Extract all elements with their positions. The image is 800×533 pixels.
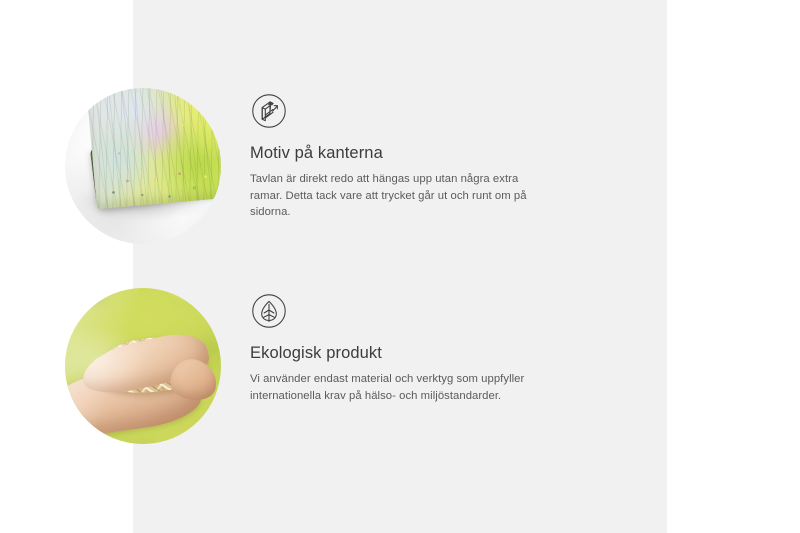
feature-title: Motiv på kanterna (250, 144, 530, 164)
feature-block-motiv-pa-kanterna: Motiv på kanterna Tavlan är direkt redo … (0, 88, 534, 244)
feature-copy: Ekologisk produkt Vi använder endast mat… (250, 288, 530, 404)
eco-photo-backdrop (65, 288, 221, 444)
feature-copy: Motiv på kanterna Tavlan är direkt redo … (250, 88, 530, 221)
leaf-icon (250, 292, 288, 330)
canvas-wrapped-edges-icon (250, 92, 288, 130)
content-background-panel (133, 0, 667, 533)
feature-description: Tavlan är direkt redo att hängas upp uta… (250, 171, 530, 221)
feature-block-ekologisk-produkt: Ekologisk produkt Vi använder endast mat… (0, 288, 534, 444)
feature-description: Vi använder endast material och verktyg … (250, 371, 530, 404)
canvas-print-corner-photo (65, 88, 221, 244)
feature-title: Ekologisk produkt (250, 344, 530, 364)
canvas-photo-backdrop (65, 88, 221, 244)
canvas-printed-face (86, 88, 221, 209)
eco-wood-chips-photo (65, 288, 221, 444)
product-feature-panel: Motiv på kanterna Tavlan är direkt redo … (0, 0, 800, 533)
